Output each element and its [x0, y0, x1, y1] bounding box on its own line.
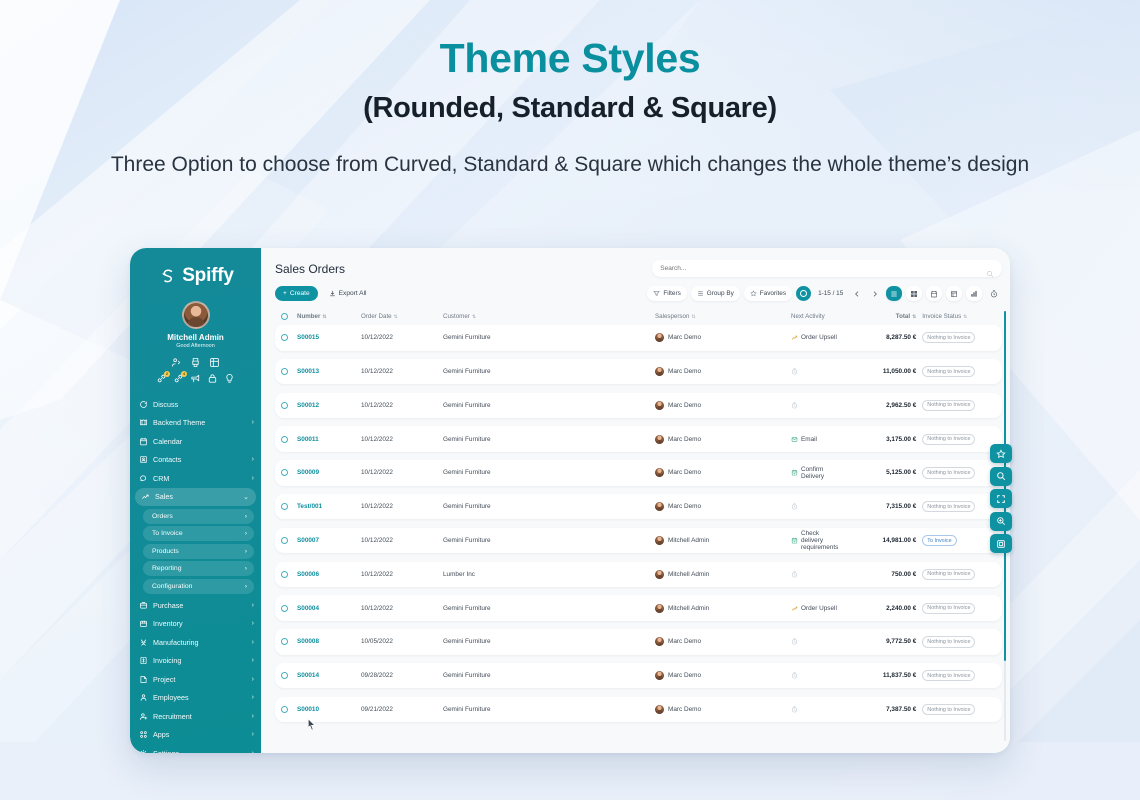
table-header: Number ⇅ Order Date ⇅ Customer ⇅ Salespe… [275, 309, 1002, 324]
calendar-view-button[interactable] [926, 286, 942, 301]
cell-invoice-status: Nothing to Invoice [916, 603, 994, 614]
cell-invoice-status: Nothing to Invoice [916, 501, 994, 512]
avatar [655, 570, 664, 579]
row-select-cell[interactable] [281, 503, 297, 510]
chevron-right-icon: › [252, 694, 254, 701]
salesperson-label: Marc Demo [668, 402, 701, 409]
clock-icon [791, 672, 798, 679]
export-all-button[interactable]: Export All [322, 286, 374, 301]
salesperson-label: Marc Demo [668, 672, 701, 679]
user-name: Mitchell Admin [130, 333, 261, 342]
sidebar-item-label: Invoicing [153, 656, 247, 665]
chevron-right-icon: › [252, 620, 254, 627]
chevron-right-icon: › [252, 456, 254, 463]
status-badge: To Invoice [922, 535, 956, 546]
chevron-right-icon: › [245, 548, 247, 555]
sidebar-item-contacts[interactable]: Contacts› [130, 451, 261, 470]
create-button-label: Create [290, 290, 310, 297]
sidebar-item-inventory[interactable]: Inventory› [130, 615, 261, 634]
table-row[interactable]: Test/00110/12/2022Gemini FurnitureMarc D… [275, 494, 1002, 520]
cell-customer: Gemini Furniture [443, 368, 655, 375]
magnifier-plus-icon [996, 516, 1006, 526]
cell-order-date: 10/12/2022 [361, 469, 443, 476]
sidebar-item-sales[interactable]: Sales⌄ [135, 488, 256, 507]
chevron-right-icon: › [252, 657, 254, 664]
hero-section: Theme Styles (Rounded, Standard & Square… [0, 0, 1140, 179]
column-header-salesperson[interactable]: Salesperson ⇅ [655, 313, 791, 320]
row-select-radio[interactable] [281, 402, 288, 409]
expand-icon [996, 494, 1006, 504]
search-icon [996, 471, 1006, 481]
cell-number[interactable]: S00006 [297, 571, 361, 578]
row-select-cell[interactable] [281, 706, 297, 713]
cell-number[interactable]: S00012 [297, 402, 361, 409]
toolbar-row-top: Sales Orders [275, 260, 1002, 277]
row-select-cell[interactable] [281, 402, 297, 409]
salesperson-label: Marc Demo [668, 368, 701, 375]
sales-chart-icon [141, 492, 150, 501]
status-badge: Nothing to Invoice [922, 670, 975, 681]
avatar [655, 367, 664, 376]
row-select-cell[interactable] [281, 672, 297, 679]
link-icon[interactable]: 2 [156, 373, 167, 384]
pagination-next-button[interactable] [868, 286, 882, 301]
kanban-view-icon [910, 290, 918, 298]
image-save-icon [996, 539, 1006, 549]
chevron-right-icon: › [252, 750, 254, 753]
cell-total: 2,962.50 € [838, 402, 916, 409]
lock-icon[interactable] [207, 373, 218, 384]
clock-icon [791, 706, 798, 713]
email-icon [791, 436, 798, 443]
main-content: Sales Orders + Create [261, 248, 1010, 753]
chevron-right-icon: › [252, 731, 254, 738]
chevron-right-icon: › [245, 583, 247, 590]
sidebar-item-backend-theme[interactable]: Backend Theme› [130, 414, 261, 433]
avatar [655, 637, 664, 646]
salesperson-label: Marc Demo [668, 503, 701, 510]
row-select-cell[interactable] [281, 605, 297, 612]
cell-total: 8,287.50 € [838, 334, 916, 341]
row-select-radio[interactable] [281, 537, 288, 544]
lightbulb-icon[interactable] [224, 373, 235, 384]
chevron-right-icon: › [252, 713, 254, 720]
avatar [655, 671, 664, 680]
cell-total: 2,240.00 € [838, 605, 916, 612]
sidebar-item-label: Apps [153, 730, 247, 739]
app-screenshot-mockup: Spiffy Mitchell Admin Good Afternoon 24 … [130, 248, 1010, 753]
salesperson-label: Mitchell Admin [668, 571, 709, 578]
cell-next-activity [791, 706, 838, 713]
sidebar-item-discuss[interactable]: Discuss [130, 395, 261, 414]
view-title: Sales Orders [275, 262, 345, 276]
column-label: Next Activity [791, 313, 825, 320]
star-icon [750, 290, 757, 297]
manufacturing-icon [139, 638, 148, 647]
project-icon [139, 675, 148, 684]
row-select-cell[interactable] [281, 571, 297, 578]
spiffy-logo-icon [157, 266, 178, 287]
status-badge: Nothing to Invoice [922, 569, 975, 580]
sidebar-subitem-label: Reporting [152, 565, 181, 572]
column-header-number[interactable]: Number ⇅ [297, 313, 361, 320]
row-select-radio[interactable] [281, 672, 288, 679]
quick-icons-row-2: 24 [130, 373, 261, 384]
inventory-icon [139, 619, 148, 628]
activity-label: Check delivery requirements [801, 530, 838, 551]
avatar-wrapper[interactable] [130, 301, 261, 329]
cell-invoice-status: Nothing to Invoice [916, 704, 994, 715]
column-label: Salesperson [655, 313, 689, 320]
favorite-star-button[interactable] [990, 444, 1012, 463]
sidebar-item-employees[interactable]: Employees› [130, 689, 261, 708]
sidebar-subitem-orders[interactable]: Orders› [143, 509, 254, 524]
crm-icon [139, 474, 148, 483]
apps-icon [139, 730, 148, 739]
sidebar-item-label: Sales [155, 492, 238, 501]
cell-number[interactable]: S00010 [297, 706, 361, 713]
cell-customer: Gemini Furniture [443, 436, 655, 443]
page-title: Theme Styles [0, 36, 1140, 82]
sidebar-item-label: Recruitment [153, 712, 247, 721]
cell-number[interactable]: S00009 [297, 469, 361, 476]
cell-order-date: 10/05/2022 [361, 638, 443, 645]
cell-salesperson: Mitchell Admin [655, 536, 791, 545]
plus-icon: + [283, 290, 287, 297]
brand-name: Spiffy [182, 265, 234, 287]
group-by-button[interactable]: Group By [691, 286, 740, 301]
column-header-customer[interactable]: Customer ⇅ [443, 313, 655, 320]
sort-icon: ⇅ [912, 314, 916, 320]
salesperson-label: Marc Demo [668, 334, 701, 341]
sidebar-item-apps[interactable]: Apps› [130, 726, 261, 745]
sidebar-subitem-label: Configuration [152, 583, 192, 590]
cell-next-activity: Email [791, 436, 838, 443]
cell-customer: Gemini Furniture [443, 402, 655, 409]
clock-icon [791, 402, 798, 409]
link-alt-icon[interactable]: 4 [173, 373, 184, 384]
table-row[interactable]: S0000410/12/2022Gemini FurnitureMitchell… [275, 595, 1002, 621]
sidebar-subitem-products[interactable]: Products› [143, 544, 254, 559]
palette-icon [139, 418, 148, 427]
cell-order-date: 09/21/2022 [361, 706, 443, 713]
chat-icon [139, 400, 148, 409]
cell-order-date: 09/28/2022 [361, 672, 443, 679]
cell-salesperson: Marc Demo [655, 705, 791, 714]
row-select-radio[interactable] [281, 368, 288, 375]
cell-salesperson: Marc Demo [655, 367, 791, 376]
cell-customer: Gemini Furniture [443, 638, 655, 645]
user-switch-icon[interactable] [171, 357, 182, 368]
notification-badge: 2 [164, 371, 170, 377]
cell-order-date: 10/12/2022 [361, 402, 443, 409]
cell-next-activity: Confirm Delivery [791, 466, 838, 480]
chevron-right-icon: › [252, 475, 254, 482]
invoicing-icon [139, 656, 148, 665]
status-badge: Nothing to Invoice [922, 434, 975, 445]
star-icon [996, 449, 1006, 459]
mouse-cursor-icon [306, 718, 317, 733]
row-select-radio[interactable] [281, 469, 288, 476]
sidebar-subitem-label: To Invoice [152, 530, 183, 537]
sidebar-item-recruitment[interactable]: Recruitment› [130, 707, 261, 726]
filters-label: Filters [663, 290, 680, 297]
salesperson-label: Marc Demo [668, 706, 701, 713]
cell-number[interactable]: S00011 [297, 436, 361, 443]
cell-order-date: 10/12/2022 [361, 334, 443, 341]
list-view-icon [890, 290, 898, 298]
cell-next-activity: Order Upsell [791, 334, 838, 341]
row-select-cell[interactable] [281, 368, 297, 375]
cell-salesperson: Mitchell Admin [655, 604, 791, 613]
employees-icon [139, 693, 148, 702]
cell-number[interactable]: S00004 [297, 605, 361, 612]
activity-view-button[interactable] [986, 286, 1002, 301]
row-select-cell[interactable] [281, 469, 297, 476]
zoom-in-button[interactable] [990, 512, 1012, 531]
cell-next-activity [791, 503, 838, 510]
cell-salesperson: Marc Demo [655, 401, 791, 410]
cell-number[interactable]: S00008 [297, 638, 361, 645]
row-select-cell[interactable] [281, 334, 297, 341]
avatar [655, 536, 664, 545]
cell-total: 11,050.00 € [838, 368, 916, 375]
fullscreen-button[interactable] [990, 489, 1012, 508]
cell-total: 3,175.00 € [838, 436, 916, 443]
sidebar-item-calendar[interactable]: Calendar [130, 432, 261, 451]
graph-view-button[interactable] [966, 286, 982, 301]
notification-badge: 4 [181, 371, 187, 377]
table-row[interactable]: S0001009/21/2022Gemini FurnitureMarc Dem… [275, 697, 1002, 723]
arrow-left-icon [853, 290, 861, 298]
salesperson-label: Marc Demo [668, 638, 701, 645]
clock-icon [791, 368, 798, 375]
list-view-button[interactable] [886, 286, 902, 301]
user-greeting: Good Afternoon [130, 343, 261, 349]
loading-ring-icon[interactable] [796, 286, 811, 301]
avatar [655, 333, 664, 342]
sidebar-item-label: Calendar [153, 437, 254, 446]
pagination-label[interactable]: 1-15 / 15 [815, 290, 846, 297]
select-all-cell[interactable] [281, 313, 297, 320]
cell-number[interactable]: S00013 [297, 368, 361, 375]
salesperson-label: Marc Demo [668, 436, 701, 443]
cell-invoice-status: Nothing to Invoice [916, 467, 994, 478]
column-header-invoice-status[interactable]: Invoice Status ⇅ [916, 313, 994, 320]
cell-customer: Gemini Furniture [443, 706, 655, 713]
row-select-radio[interactable] [281, 706, 288, 713]
search-icon[interactable] [986, 265, 994, 273]
row-select-radio[interactable] [281, 503, 288, 510]
activity-label: Confirm Delivery [801, 466, 838, 480]
cell-next-activity [791, 402, 838, 409]
sidebar-subitem-to-invoice[interactable]: To Invoice› [143, 526, 254, 541]
cell-next-activity: Check delivery requirements [791, 530, 838, 551]
create-button[interactable]: + Create [275, 286, 318, 301]
cell-total: 7,387.50 € [838, 706, 916, 713]
salesperson-label: Mitchell Admin [668, 537, 709, 544]
cell-order-date: 10/12/2022 [361, 436, 443, 443]
gear-icon [139, 749, 148, 753]
table-area: Number ⇅ Order Date ⇅ Customer ⇅ Salespe… [261, 309, 1010, 753]
clock-icon [791, 503, 798, 510]
cell-next-activity [791, 672, 838, 679]
cell-salesperson: Marc Demo [655, 435, 791, 444]
cell-number[interactable]: S00015 [297, 334, 361, 341]
graph-view-icon [970, 290, 978, 298]
favorites-label: Favorites [760, 290, 786, 297]
sort-icon: ⇅ [394, 314, 398, 320]
search-input[interactable] [660, 265, 986, 272]
column-header-total[interactable]: Total ⇅ [838, 313, 916, 320]
table-row[interactable]: S0000910/12/2022Gemini FurnitureMarc Dem… [275, 460, 1002, 486]
cell-salesperson: Mitchell Admin [655, 570, 791, 579]
table-row[interactable]: S0000710/12/2022Gemini FurnitureMitchell… [275, 528, 1002, 554]
calendar-icon [139, 437, 148, 446]
search-box[interactable] [652, 260, 1002, 277]
sidebar-item-label: Discuss [153, 400, 254, 409]
favorites-button[interactable]: Favorites [744, 286, 792, 301]
cell-customer: Gemini Furniture [443, 503, 655, 510]
toolbar-tools: Filters Group By Favorites [647, 286, 1002, 301]
row-select-radio[interactable] [281, 334, 288, 341]
clock-icon [791, 638, 798, 645]
sidebar-subitem-configuration[interactable]: Configuration› [143, 579, 254, 594]
status-badge: Nothing to Invoice [922, 603, 975, 614]
cell-next-activity: Order Upsell [791, 605, 838, 612]
row-select-cell[interactable] [281, 436, 297, 443]
column-label: Invoice Status [922, 313, 961, 320]
cell-invoice-status: To Invoice [916, 535, 994, 546]
row-select-radio[interactable] [281, 436, 288, 443]
cell-invoice-status: Nothing to Invoice [916, 400, 994, 411]
sidebar-item-purchase[interactable]: Purchase› [130, 596, 261, 615]
page-subtitle: (Rounded, Standard & Square) [0, 92, 1140, 125]
arrow-right-icon [871, 290, 879, 298]
sidebar-subitem-reporting[interactable]: Reporting› [143, 561, 254, 576]
megaphone-icon[interactable] [190, 373, 201, 384]
avatar [655, 435, 664, 444]
sidebar-item-settings[interactable]: Settings› [130, 744, 261, 753]
list-icon [697, 290, 704, 297]
column-header-next-activity[interactable]: Next Activity [791, 313, 838, 320]
kanban-view-button[interactable] [906, 286, 922, 301]
quick-icons-row-1 [130, 357, 261, 368]
avatar [655, 604, 664, 613]
cell-order-date: 10/12/2022 [361, 571, 443, 578]
pagination-prev-button[interactable] [850, 286, 864, 301]
cell-customer: Gemini Furniture [443, 605, 655, 612]
cell-invoice-status: Nothing to Invoice [916, 569, 994, 580]
table-body: S0001510/12/2022Gemini FurnitureMarc Dem… [275, 325, 1002, 722]
sidebar-item-label: Backend Theme [153, 418, 247, 427]
sidebar-subitem-label: Orders [152, 513, 173, 520]
avatar[interactable] [182, 301, 210, 329]
sidebar-item-label: Contacts [153, 455, 247, 464]
cell-customer: Lumber Inc [443, 571, 655, 578]
sidebar-item-label: CRM [153, 474, 247, 483]
filter-icon [653, 290, 660, 297]
table-row[interactable]: S0001310/12/2022Gemini FurnitureMarc Dem… [275, 359, 1002, 385]
chevron-right-icon: › [252, 602, 254, 609]
brand[interactable]: Spiffy [130, 260, 261, 292]
calendar-view-icon [930, 290, 938, 298]
search-button[interactable] [990, 467, 1012, 486]
column-header-order-date[interactable]: Order Date ⇅ [361, 313, 443, 320]
cell-order-date: 10/12/2022 [361, 368, 443, 375]
sidebar-item-invoicing[interactable]: Invoicing› [130, 652, 261, 671]
sidebar-item-label: Project [153, 675, 247, 684]
table-row[interactable]: S0000810/05/2022Gemini FurnitureMarc Dem… [275, 629, 1002, 655]
table-row[interactable]: S0001409/28/2022Gemini FurnitureMarc Dem… [275, 663, 1002, 689]
cell-total: 11,837.50 € [838, 672, 916, 679]
cell-invoice-status: Nothing to Invoice [916, 636, 994, 647]
apps-grid-icon[interactable] [209, 357, 220, 368]
sidebar-item-manufacturing[interactable]: Manufacturing› [130, 633, 261, 652]
chevron-right-icon: › [252, 676, 254, 683]
chevron-down-icon: ⌄ [243, 493, 249, 501]
sort-icon: ⇅ [963, 314, 967, 320]
floating-toolbar [990, 444, 1012, 553]
sort-icon: ⇅ [322, 314, 326, 320]
cell-total: 9,772.50 € [838, 638, 916, 645]
print-icon[interactable] [190, 357, 201, 368]
column-label: Number [297, 313, 320, 320]
status-badge: Nothing to Invoice [922, 501, 975, 512]
status-badge: Nothing to Invoice [922, 400, 975, 411]
cell-total: 14,981.00 € [838, 537, 916, 544]
sidebar: Spiffy Mitchell Admin Good Afternoon 24 … [130, 248, 261, 753]
pivot-view-button[interactable] [946, 286, 962, 301]
cell-customer: Gemini Furniture [443, 537, 655, 544]
calendar-check-icon [791, 537, 798, 544]
status-badge: Nothing to Invoice [922, 636, 975, 647]
clock-icon [791, 571, 798, 578]
cell-number[interactable]: S00007 [297, 537, 361, 544]
cell-invoice-status: Nothing to Invoice [916, 670, 994, 681]
avatar [655, 705, 664, 714]
table-row[interactable]: S0001210/12/2022Gemini FurnitureMarc Dem… [275, 393, 1002, 419]
save-image-button[interactable] [990, 534, 1012, 553]
filters-button[interactable]: Filters [647, 286, 686, 301]
row-select-cell[interactable] [281, 638, 297, 645]
status-badge: Nothing to Invoice [922, 467, 975, 478]
sidebar-item-project[interactable]: Project› [130, 670, 261, 689]
table-row[interactable]: S0001110/12/2022Gemini FurnitureMarc Dem… [275, 426, 1002, 452]
table-row[interactable]: S0000610/12/2022Lumber IncMitchell Admin… [275, 562, 1002, 588]
sidebar-item-label: Inventory [153, 619, 247, 628]
cell-salesperson: Marc Demo [655, 502, 791, 511]
cell-salesperson: Marc Demo [655, 671, 791, 680]
sidebar-item-crm[interactable]: CRM› [130, 469, 261, 488]
salesperson-label: Mitchell Admin [668, 605, 709, 612]
cell-number[interactable]: Test/001 [297, 503, 361, 510]
row-select-cell[interactable] [281, 537, 297, 544]
cell-customer: Gemini Furniture [443, 672, 655, 679]
column-label: Order Date [361, 313, 392, 320]
cell-salesperson: Marc Demo [655, 637, 791, 646]
chevron-right-icon: › [252, 639, 254, 646]
select-all-radio[interactable] [281, 313, 288, 320]
row-select-radio[interactable] [281, 605, 288, 612]
page-description: Three Option to choose from Curved, Stan… [0, 151, 1140, 179]
cell-number[interactable]: S00014 [297, 672, 361, 679]
row-select-radio[interactable] [281, 638, 288, 645]
sidebar-item-label: Settings [153, 749, 247, 753]
table-row[interactable]: S0001510/12/2022Gemini FurnitureMarc Dem… [275, 325, 1002, 351]
row-select-radio[interactable] [281, 571, 288, 578]
cell-order-date: 10/12/2022 [361, 503, 443, 510]
